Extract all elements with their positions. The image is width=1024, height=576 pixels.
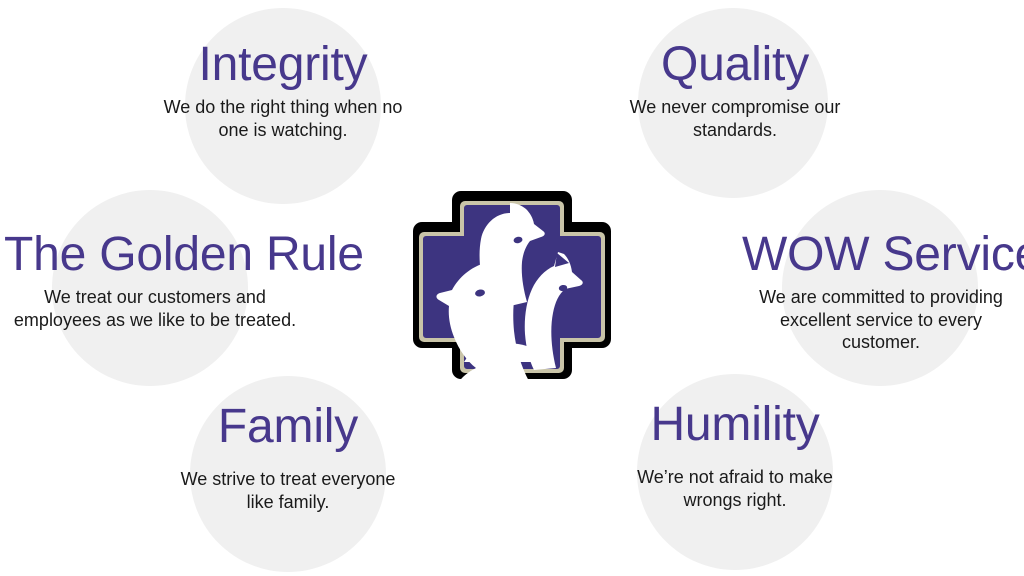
value-item-integrity: Integrity We do the right thing when no … <box>150 38 416 141</box>
value-description-family: We strive to treat everyone like family. <box>168 468 408 513</box>
value-description-quality: We never compromise our standards. <box>612 96 858 141</box>
core-values-diagram: Integrity We do the right thing when no … <box>0 0 1024 576</box>
value-description-golden-rule: We treat our customers and employees as … <box>4 286 306 331</box>
value-description-integrity: We do the right thing when no one is wat… <box>150 96 416 141</box>
value-item-quality: Quality We never compromise our standard… <box>612 38 858 141</box>
value-item-family: Family We strive to treat everyone like … <box>168 400 408 513</box>
value-item-humility: Humility We’re not afraid to make wrongs… <box>606 398 864 511</box>
value-description-humility: We’re not afraid to make wrongs right. <box>606 466 864 511</box>
value-title-quality: Quality <box>612 38 858 92</box>
value-title-family: Family <box>168 400 408 454</box>
value-title-integrity: Integrity <box>150 38 416 92</box>
value-title-humility: Humility <box>606 398 864 452</box>
value-item-wow-service: WOW Service We are committed to providin… <box>742 228 1020 354</box>
value-title-golden-rule: The Golden Rule <box>4 228 306 282</box>
value-item-golden-rule: The Golden Rule We treat our customers a… <box>4 228 306 331</box>
value-title-wow-service: WOW Service <box>742 228 1020 282</box>
center-logo <box>406 184 618 390</box>
value-description-wow-service: We are committed to providing excellent … <box>742 286 1020 354</box>
